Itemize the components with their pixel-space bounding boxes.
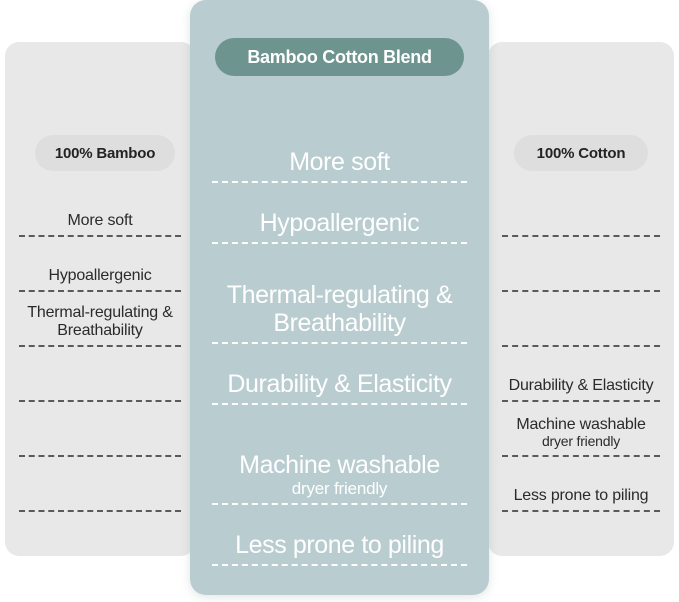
feature-row: More soft	[19, 190, 181, 245]
comparison-infographic: 100% Bamboo More softHypoallergenicTherm…	[0, 0, 679, 602]
feature-divider	[502, 510, 660, 512]
feature-row: Less prone to piling	[502, 465, 660, 520]
feature-label: Machine washable	[516, 416, 645, 434]
feature-row: Durability & Elasticity	[212, 352, 467, 413]
feature-row: Durability & Elasticity	[502, 355, 660, 410]
feature-label: Less prone to piling	[514, 487, 649, 505]
feature-row: Thermal-regulating & Breathability	[19, 300, 181, 355]
feature-label: Durability & Elasticity	[509, 377, 654, 395]
feature-row: Machine washabledryer friendly	[502, 410, 660, 465]
panel-100-percent-cotton: 100% Cotton Durability & ElasticityMachi…	[488, 42, 674, 556]
feature-divider	[212, 342, 467, 344]
panel-bamboo-cotton-blend: Bamboo Cotton Blend More softHypoallerge…	[190, 0, 489, 595]
feature-label: Hypoallergenic	[260, 209, 420, 237]
feature-label: More soft	[68, 212, 133, 230]
feature-divider	[19, 345, 181, 347]
feature-label: More soft	[289, 148, 390, 176]
panel-center-feature-list: More softHypoallergenicThermal-regulatin…	[190, 130, 489, 574]
panel-right-badge-label: 100% Cotton	[537, 145, 626, 162]
feature-divider	[502, 455, 660, 457]
feature-row: Hypoallergenic	[212, 191, 467, 252]
feature-divider	[19, 455, 181, 457]
feature-row	[19, 410, 181, 465]
feature-sublabel: dryer friendly	[542, 434, 620, 450]
feature-label: Hypoallergenic	[48, 267, 151, 285]
feature-label: Thermal-regulating & Breathability	[212, 281, 467, 337]
feature-row: Less prone to piling	[212, 513, 467, 574]
feature-sublabel: dryer friendly	[292, 479, 387, 498]
feature-divider	[502, 290, 660, 292]
feature-label: Machine washable	[239, 451, 440, 479]
feature-label: Thermal-regulating & Breathability	[19, 304, 181, 340]
feature-row	[19, 465, 181, 520]
feature-divider	[212, 503, 467, 505]
panel-left-feature-list: More softHypoallergenicThermal-regulatin…	[5, 190, 195, 520]
feature-divider	[212, 181, 467, 183]
feature-row	[19, 355, 181, 410]
feature-row	[502, 190, 660, 245]
panel-left-badge: 100% Bamboo	[35, 135, 175, 171]
feature-row: Machine washabledryer friendly	[212, 413, 467, 513]
feature-divider	[19, 510, 181, 512]
feature-divider	[502, 400, 660, 402]
feature-row: Hypoallergenic	[19, 245, 181, 300]
feature-divider	[212, 564, 467, 566]
feature-divider	[19, 235, 181, 237]
feature-row	[502, 245, 660, 300]
panel-center-badge-label: Bamboo Cotton Blend	[247, 47, 431, 68]
panel-left-badge-label: 100% Bamboo	[55, 145, 155, 162]
feature-divider	[19, 290, 181, 292]
panel-100-percent-bamboo: 100% Bamboo More softHypoallergenicTherm…	[5, 42, 195, 556]
feature-divider	[19, 400, 181, 402]
feature-label: Durability & Elasticity	[227, 370, 451, 398]
feature-label: Less prone to piling	[235, 531, 444, 559]
feature-divider	[212, 242, 467, 244]
panel-right-badge: 100% Cotton	[514, 135, 648, 171]
panel-center-badge: Bamboo Cotton Blend	[215, 38, 464, 76]
panel-right-feature-list: Durability & ElasticityMachine washabled…	[488, 190, 674, 520]
feature-row	[502, 300, 660, 355]
feature-divider	[212, 403, 467, 405]
feature-row: More soft	[212, 130, 467, 191]
feature-divider	[502, 235, 660, 237]
feature-divider	[502, 345, 660, 347]
feature-row: Thermal-regulating & Breathability	[212, 252, 467, 352]
